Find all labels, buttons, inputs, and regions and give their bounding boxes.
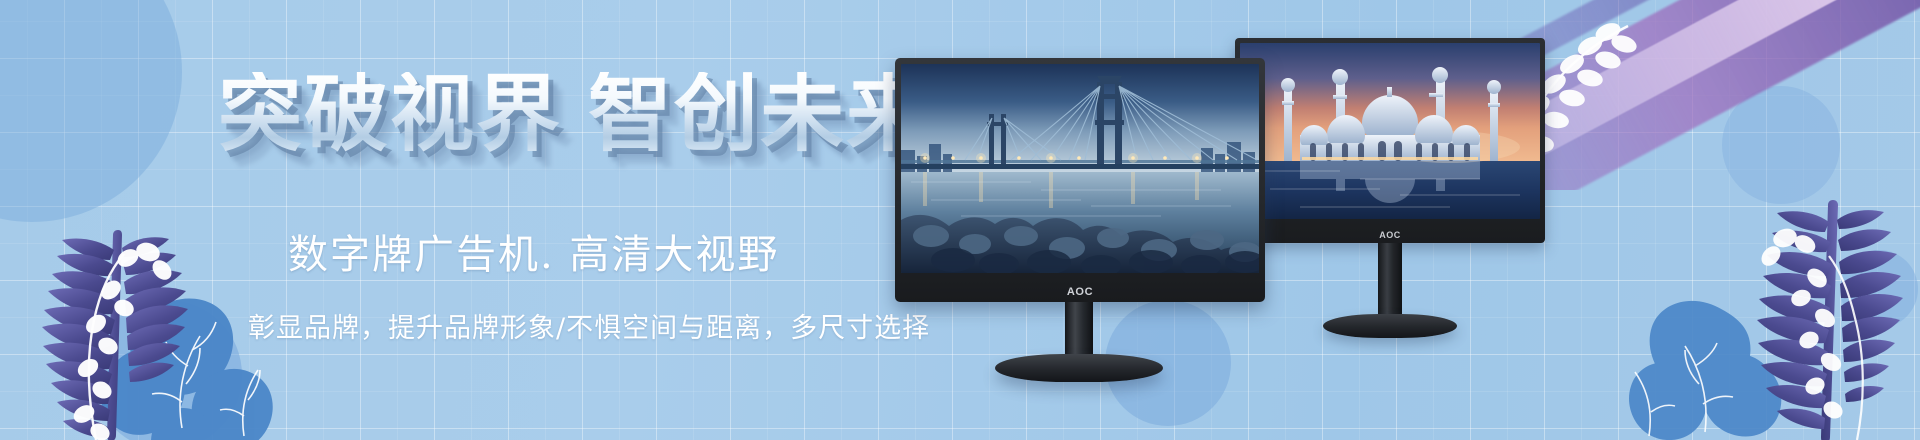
back-monitor-stand-base (1323, 314, 1457, 338)
text-block: 突破视界智创未来 数字牌广告机. 高清大视野 彰显品牌，提升品牌形象/不惧空间与… (0, 0, 980, 440)
back-monitor-screen (1240, 43, 1540, 219)
promo-banner: 突破视界智创未来 数字牌广告机. 高清大视野 彰显品牌，提升品牌形象/不惧空间与… (0, 0, 1920, 440)
back-monitor-logo: AOC (1235, 230, 1545, 240)
headline-part-1: 突破视界 (218, 65, 562, 163)
monitor-group: AOC (880, 0, 1920, 440)
back-monitor-stand-neck (1378, 243, 1402, 321)
back-monitor: AOC (1235, 38, 1545, 338)
subtitle: 数字牌广告机. 高清大视野 (288, 232, 779, 278)
front-monitor-bezel: AOC (895, 58, 1265, 302)
back-monitor-bezel: AOC (1235, 38, 1545, 243)
front-monitor: AOC (895, 58, 1265, 358)
tagline: 彰显品牌，提升品牌形象/不惧空间与距离，多尺寸选择 (248, 313, 930, 345)
front-monitor-logo: AOC (895, 286, 1265, 298)
front-monitor-screen (901, 64, 1259, 273)
front-monitor-stand-neck (1065, 302, 1093, 362)
mosque-sunset-image (1240, 43, 1540, 219)
front-monitor-stand-base (995, 354, 1163, 382)
page-title: 突破视界智创未来 (218, 72, 932, 156)
suspension-bridge-image (901, 64, 1259, 273)
